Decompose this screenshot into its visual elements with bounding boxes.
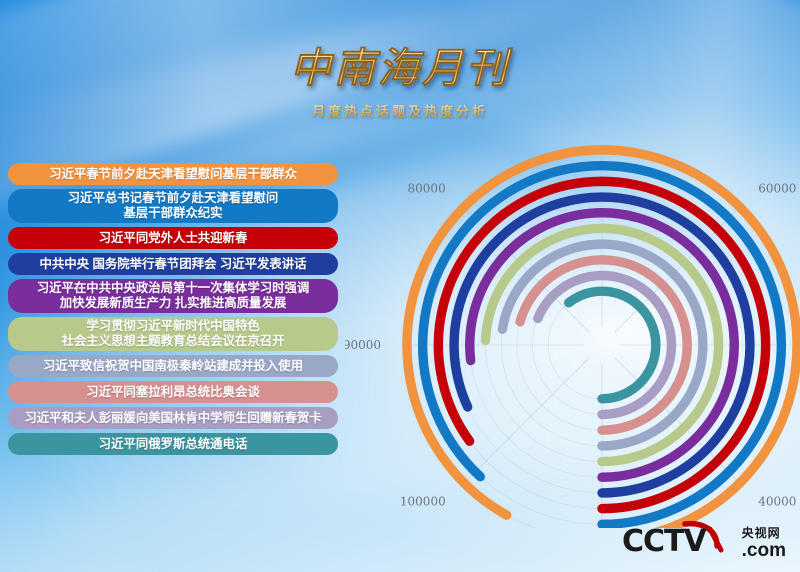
legend-item[interactable]: 学习贯彻习近平新时代中国特色 社会主义思想主题教育总结会议在京召开 <box>8 317 338 351</box>
legend-item-label: 习近平同塞拉利昂总统比奥会谈 <box>86 385 259 400</box>
page-subtitle: 月度热点话题及热度分析 <box>0 101 800 120</box>
axis-tick-label: 60000 <box>758 182 796 196</box>
radial-bar-chart: 400005000060000700008000090000100000 <box>345 128 800 528</box>
legend-item-label: 习近平致信祝贺中国南极秦岭站建成并投入使用 <box>43 359 303 374</box>
axis-tick-label: 90000 <box>345 338 381 352</box>
legend-item-label: 习近平同俄罗斯总统通电话 <box>99 437 248 452</box>
page-title: 中南海月刊 <box>290 46 510 92</box>
legend-item-label: 习近平和夫人彭丽媛向美国林肯中学师生回赠新春贺卡 <box>24 411 321 426</box>
axis-tick-label: 100000 <box>400 494 446 508</box>
legend-item-label: 习近平同党外人士共迎新春 <box>99 231 248 246</box>
legend-list: 习近平春节前夕赴天津看望慰问基层干部群众习近平总书记春节前夕赴天津看望慰问 基层… <box>8 163 338 459</box>
title-block: 中南海月刊 月度热点话题及热度分析 <box>0 46 800 120</box>
legend-item[interactable]: 习近平同党外人士共迎新春 <box>8 227 338 249</box>
legend-item-label: 习近平在中共中央政治局第十一次集体学习时强调 加快发展新质生产力 扎实推进高质量… <box>37 281 310 311</box>
cctv-cn-text: 央视网 .com <box>742 527 786 560</box>
cctv-cn-bottom: .com <box>742 541 786 560</box>
legend-item-label: 中共中央 国务院举行春节团拜会 习近平发表讲话 <box>39 257 306 272</box>
legend-item[interactable]: 习近平同塞拉利昂总统比奥会谈 <box>8 381 338 403</box>
legend-item[interactable]: 习近平春节前夕赴天津看望慰问基层干部群众 <box>8 163 338 185</box>
axis-tick-label: 70000 <box>583 128 621 131</box>
legend-item-label: 习近平总书记春节前夕赴天津看望慰问 基层干部群众纪实 <box>68 191 279 221</box>
legend-item[interactable]: 习近平同俄罗斯总统通电话 <box>8 433 338 455</box>
legend-item[interactable]: 习近平在中共中央政治局第十一次集体学习时强调 加快发展新质生产力 扎实推进高质量… <box>8 279 338 313</box>
legend-item[interactable]: 习近平致信祝贺中国南极秦岭站建成并投入使用 <box>8 355 338 377</box>
legend-item[interactable]: 习近平总书记春节前夕赴天津看望慰问 基层干部群众纪实 <box>8 189 338 223</box>
axis-tick-label: 80000 <box>408 182 446 196</box>
axis-tick-label: 40000 <box>758 494 796 508</box>
legend-item[interactable]: 习近平和夫人彭丽媛向美国林肯中学师生回赠新春贺卡 <box>8 407 338 429</box>
legend-item-label: 习近平春节前夕赴天津看望慰问基层干部群众 <box>49 167 297 182</box>
cctv-cn-top: 央视网 <box>742 527 786 540</box>
legend-item[interactable]: 中共中央 国务院举行春节团拜会 习近平发表讲话 <box>8 253 338 275</box>
svg-text:CCTV: CCTV <box>622 524 707 559</box>
legend-item-label: 学习贯彻习近平新时代中国特色 社会主义思想主题教育总结会议在京召开 <box>61 319 284 349</box>
cctv-logo: CCTV 央视网 .com <box>622 520 786 560</box>
cctv-wordmark-icon: CCTV <box>622 520 740 560</box>
